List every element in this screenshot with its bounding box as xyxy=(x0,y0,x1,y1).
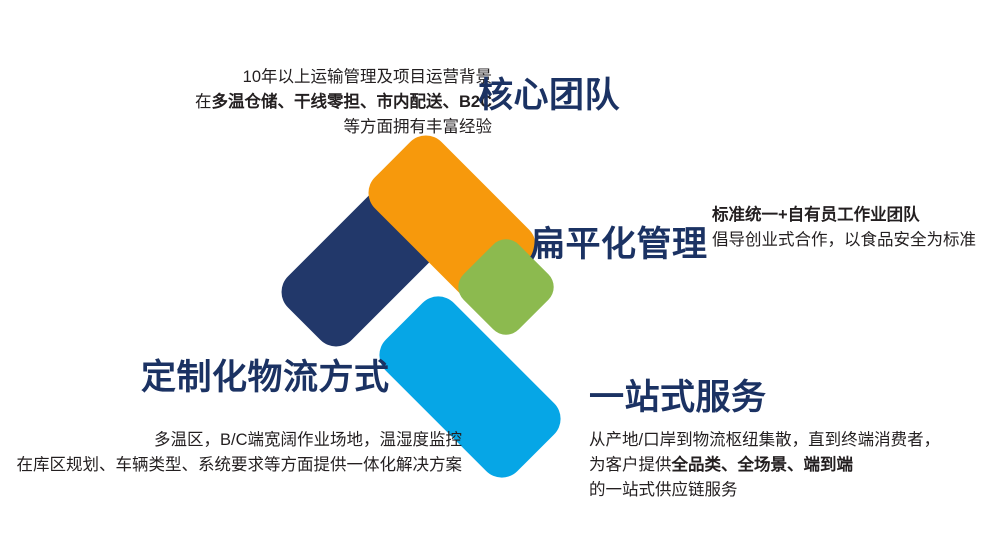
description-line: 从产地/口岸到物流枢纽集散，直到终端消费者， xyxy=(589,428,940,453)
description-line: 等方面拥有丰富经验 xyxy=(195,115,492,140)
one-stop-service-description: 从产地/口岸到物流枢纽集散，直到终端消费者，为客户提供全品类、全场景、端到端的一… xyxy=(589,428,940,503)
core-team-description: 10年以上运输管理及项目运营背景在多温仓储、干线零担、市内配送、B2C等方面拥有… xyxy=(195,65,492,140)
tile-orange xyxy=(359,126,544,311)
emphasis-text: 多温仓储、干线零担、市内配送、B2C xyxy=(211,93,492,111)
plain-text: 为客户提供 xyxy=(589,456,672,474)
tile-navy xyxy=(272,160,467,355)
plain-text: 多温区，B/C端宽阔作业场地，温湿度监控 xyxy=(154,431,462,449)
custom-logistics-description: 多温区，B/C端宽阔作业场地，温湿度监控在库区规划、车辆类型、系统要求等方面提供… xyxy=(17,428,463,478)
custom-logistics-heading: 定制化物流方式 xyxy=(141,358,390,398)
plain-text: 的一站式供应链服务 xyxy=(589,481,738,499)
flat-management-description: 标准统一+自有员工作业团队倡导创业式合作，以食品安全为标准 xyxy=(712,203,976,253)
diagram-canvas: 10年以上运输管理及项目运营背景在多温仓储、干线零担、市内配送、B2C等方面拥有… xyxy=(0,0,1000,544)
description-line: 在库区规划、车辆类型、系统要求等方面提供一体化解决方案 xyxy=(17,453,463,478)
description-line: 10年以上运输管理及项目运营背景 xyxy=(195,65,492,90)
description-line: 的一站式供应链服务 xyxy=(589,478,940,503)
plain-text: 从产地/口岸到物流枢纽集散，直到终端消费者， xyxy=(589,431,940,449)
plain-text: 10年以上运输管理及项目运营背景 xyxy=(243,68,492,86)
plain-text: 倡导创业式合作，以食品安全为标准 xyxy=(712,231,976,249)
flat-management-heading: 扁平化管理 xyxy=(530,225,708,265)
one-stop-service-heading: 一站式服务 xyxy=(589,378,767,418)
plain-text: 等方面拥有丰富经验 xyxy=(344,118,493,136)
description-line: 倡导创业式合作，以食品安全为标准 xyxy=(712,228,976,253)
plain-text: 在库区规划、车辆类型、系统要求等方面提供一体化解决方案 xyxy=(17,456,463,474)
description-line: 为客户提供全品类、全场景、端到端 xyxy=(589,453,940,478)
core-team-heading: 核心团队 xyxy=(478,76,620,116)
description-line: 多温区，B/C端宽阔作业场地，温湿度监控 xyxy=(17,428,463,453)
plain-text: 在 xyxy=(195,93,212,111)
description-line: 在多温仓储、干线零担、市内配送、B2C xyxy=(195,90,492,115)
description-line: 标准统一+自有员工作业团队 xyxy=(712,203,976,228)
emphasis-text: 标准统一+自有员工作业团队 xyxy=(712,206,920,224)
emphasis-text: 全品类、全场景、端到端 xyxy=(672,456,854,474)
